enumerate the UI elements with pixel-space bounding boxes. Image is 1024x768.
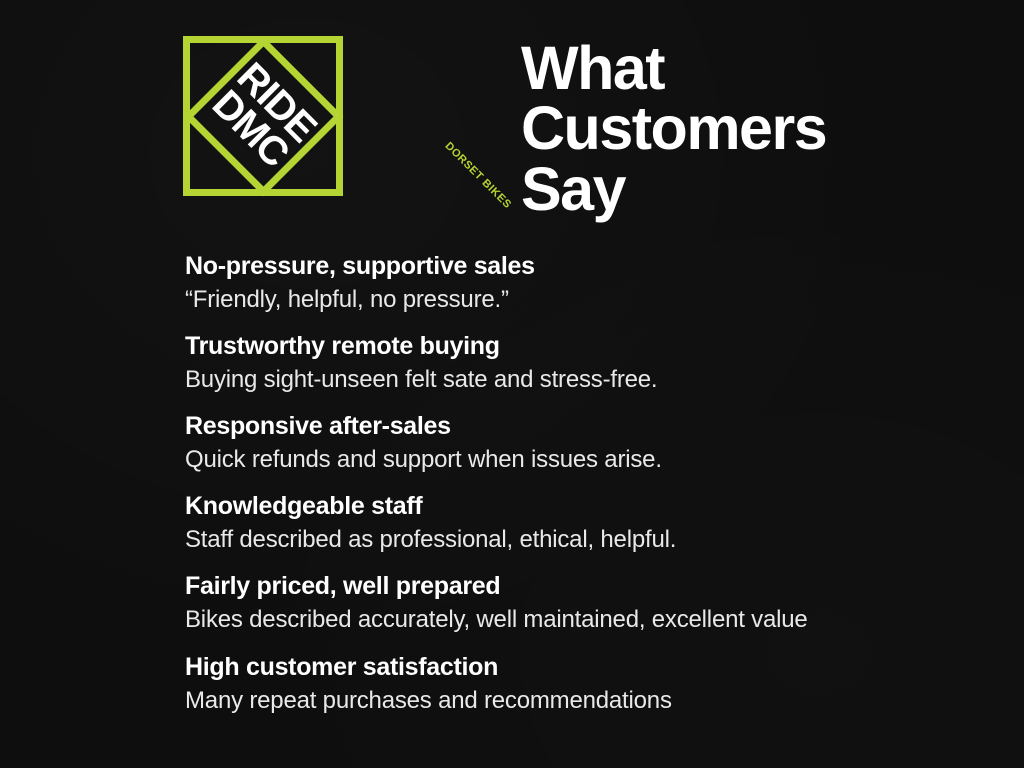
list-item: Fairly priced, well prepared Bikes descr… bbox=[185, 570, 985, 636]
list-item: Trustworthy remote buying Buying sight-u… bbox=[185, 330, 985, 396]
item-subtext: Buying sight-unseen felt sate and stress… bbox=[185, 363, 985, 396]
item-heading: No-pressure, supportive sales bbox=[185, 250, 985, 283]
title-line-1: What bbox=[521, 38, 991, 98]
list-item: Knowledgeable staff Staff described as p… bbox=[185, 490, 985, 556]
list-item: No-pressure, supportive sales “Friendly,… bbox=[185, 250, 985, 316]
item-subtext: Staff described as professional, ethical… bbox=[185, 523, 985, 556]
title-line-2: Customers bbox=[521, 98, 991, 158]
item-heading: Knowledgeable staff bbox=[185, 490, 985, 523]
brand-logo: RIDE DMC DORSET BIKES bbox=[183, 36, 343, 196]
page-title: What Customers Say bbox=[521, 38, 991, 219]
title-line-3: Say bbox=[521, 159, 991, 219]
item-subtext: Quick refunds and support when issues ar… bbox=[185, 443, 985, 476]
item-subtext: Bikes described accurately, well maintai… bbox=[185, 603, 985, 636]
item-heading: Fairly priced, well prepared bbox=[185, 570, 985, 603]
list-item: High customer satisfaction Many repeat p… bbox=[185, 651, 985, 717]
logo-tagline: DORSET BIKES bbox=[443, 140, 514, 211]
testimonial-slide: RIDE DMC DORSET BIKES What Customers Say… bbox=[0, 0, 1024, 768]
list-item: Responsive after-sales Quick refunds and… bbox=[185, 410, 985, 476]
item-heading: Trustworthy remote buying bbox=[185, 330, 985, 363]
item-heading: Responsive after-sales bbox=[185, 410, 985, 443]
item-subtext: Many repeat purchases and recommendation… bbox=[185, 684, 985, 717]
testimonial-list: No-pressure, supportive sales “Friendly,… bbox=[185, 250, 985, 717]
item-subtext: “Friendly, helpful, no pressure.” bbox=[185, 283, 985, 316]
item-heading: High customer satisfaction bbox=[185, 651, 985, 684]
